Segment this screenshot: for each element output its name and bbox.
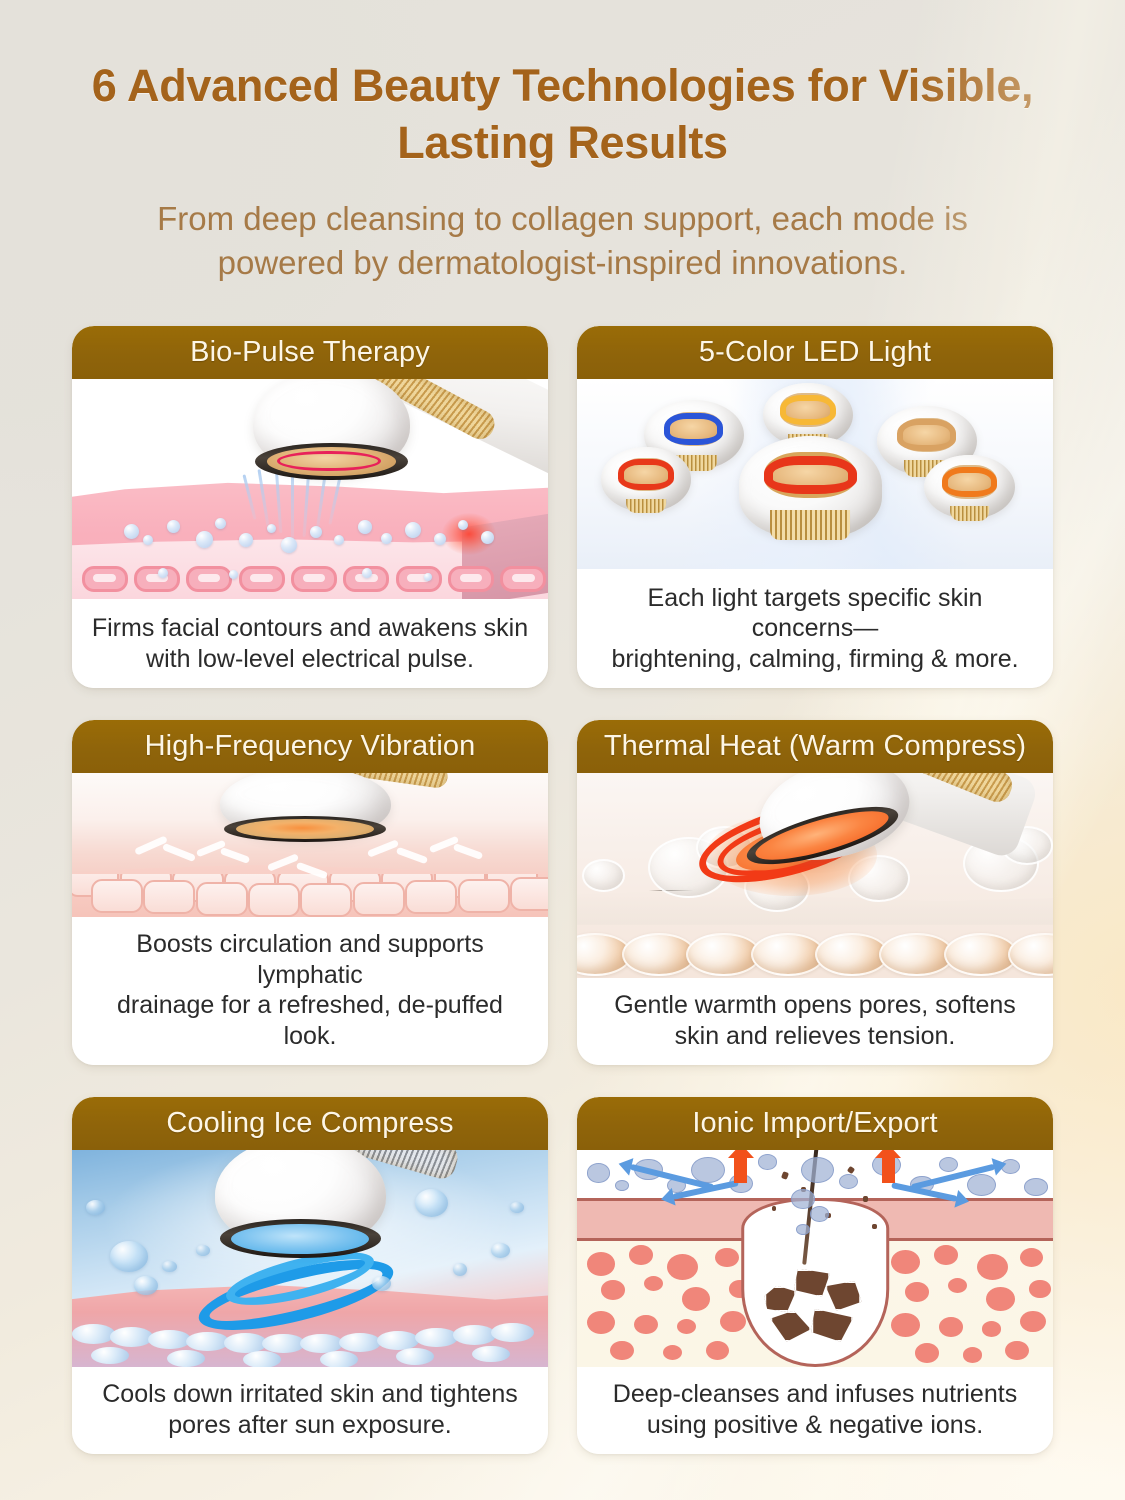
card-cooling-ice-compress[interactable]: Cooling Ice Compress bbox=[72, 1097, 548, 1454]
page-title-line-2: Lasting Results bbox=[397, 117, 728, 168]
card-thermal-heat-warm-compress[interactable]: Thermal Heat (Warm Compress) bbox=[577, 720, 1053, 1065]
caption-line-2: skin and relieves tension. bbox=[675, 1022, 956, 1050]
card-illustration-bio-pulse-therapy bbox=[72, 379, 548, 599]
caption-line-1: Gentle warmth opens pores, softens bbox=[614, 991, 1016, 1019]
card-caption-high-frequency-vibration: Boosts circulation and supports lymphati… bbox=[72, 917, 548, 1065]
caption-line-2: drainage for a refreshed, de-puffed look… bbox=[117, 991, 503, 1050]
card-header-ionic-import-export: Ionic Import/Export bbox=[577, 1097, 1053, 1150]
card-illustration-high-frequency-vibration bbox=[72, 773, 548, 917]
page-subtitle-line-1: From deep cleansing to collagen support,… bbox=[157, 200, 968, 237]
caption-line-1: Cools down irritated skin and tightens bbox=[102, 1380, 518, 1408]
card-illustration-cooling-ice-compress bbox=[72, 1150, 548, 1367]
page-subtitle: From deep cleansing to collagen support,… bbox=[70, 197, 1055, 285]
caption-line-2: pores after sun exposure. bbox=[168, 1411, 452, 1439]
led-head-main-red bbox=[739, 436, 882, 538]
page-title: 6 Advanced Beauty Technologies for Visib… bbox=[70, 58, 1055, 171]
card-caption-bio-pulse-therapy: Firms facial contours and awakens skin w… bbox=[72, 599, 548, 688]
technology-card-grid: Bio-Pulse Therapy bbox=[72, 326, 1053, 1454]
card-header-high-frequency-vibration: High-Frequency Vibration bbox=[72, 720, 548, 773]
card-header-thermal-heat-warm-compress: Thermal Heat (Warm Compress) bbox=[577, 720, 1053, 773]
card-caption-cooling-ice-compress: Cools down irritated skin and tightens p… bbox=[72, 1367, 548, 1454]
skin-cell-row bbox=[72, 874, 548, 917]
card-ionic-import-export[interactable]: Ionic Import/Export bbox=[577, 1097, 1053, 1454]
card-illustration-ionic-import-export bbox=[577, 1150, 1053, 1367]
caption-line-1: Boosts circulation and supports lymphati… bbox=[136, 930, 483, 989]
export-arrow-left bbox=[734, 1157, 747, 1183]
card-header-bio-pulse-therapy: Bio-Pulse Therapy bbox=[72, 326, 548, 379]
card-header-cooling-ice-compress: Cooling Ice Compress bbox=[72, 1097, 548, 1150]
card-5-color-led-light[interactable]: 5-Color LED Light bbox=[577, 326, 1053, 688]
card-caption-ionic-import-export: Deep-cleanses and infuses nutrients usin… bbox=[577, 1367, 1053, 1454]
card-header-5-color-led-light: 5-Color LED Light bbox=[577, 326, 1053, 379]
led-head-orange bbox=[924, 455, 1014, 519]
caption-line-1: Firms facial contours and awakens skin bbox=[92, 614, 528, 642]
dirt-plug bbox=[762, 1265, 868, 1343]
card-illustration-thermal-heat-warm-compress bbox=[577, 773, 1053, 978]
card-bio-pulse-therapy[interactable]: Bio-Pulse Therapy bbox=[72, 326, 548, 688]
caption-line-2: with low-level electrical pulse. bbox=[146, 645, 474, 673]
card-caption-thermal-heat-warm-compress: Gentle warmth opens pores, softens skin … bbox=[577, 978, 1053, 1065]
pore-cross-section bbox=[741, 1198, 889, 1367]
card-title-ionic-import-export: Ionic Import/Export bbox=[692, 1107, 937, 1140]
card-title-cooling-ice-compress: Cooling Ice Compress bbox=[166, 1107, 453, 1140]
page-title-line-1: 6 Advanced Beauty Technologies for Visib… bbox=[92, 60, 1034, 111]
skin-sphere-row bbox=[577, 917, 1053, 979]
export-arrow-right bbox=[882, 1157, 895, 1183]
caption-line-1: Each light targets specific skin concern… bbox=[648, 584, 983, 643]
page-header: 6 Advanced Beauty Technologies for Visib… bbox=[0, 0, 1125, 285]
card-title-5-color-led-light: 5-Color LED Light bbox=[699, 336, 931, 369]
card-caption-5-color-led-light: Each light targets specific skin concern… bbox=[577, 569, 1053, 689]
caption-line-2: brightening, calming, firming & more. bbox=[611, 645, 1018, 673]
led-head-red bbox=[601, 447, 691, 511]
card-title-bio-pulse-therapy: Bio-Pulse Therapy bbox=[190, 336, 430, 369]
caption-line-1: Deep-cleanses and infuses nutrients bbox=[613, 1380, 1017, 1408]
card-high-frequency-vibration[interactable]: High-Frequency Vibration bbox=[72, 720, 548, 1065]
card-illustration-5-color-led-light bbox=[577, 379, 1053, 569]
caption-line-2: using positive & negative ions. bbox=[647, 1411, 983, 1439]
infographic-page: 6 Advanced Beauty Technologies for Visib… bbox=[0, 0, 1125, 1500]
card-title-thermal-heat-warm-compress: Thermal Heat (Warm Compress) bbox=[604, 730, 1026, 763]
page-subtitle-line-2: powered by dermatologist-inspired innova… bbox=[218, 244, 908, 281]
skin-cell-row bbox=[72, 555, 548, 599]
card-title-high-frequency-vibration: High-Frequency Vibration bbox=[145, 730, 476, 763]
